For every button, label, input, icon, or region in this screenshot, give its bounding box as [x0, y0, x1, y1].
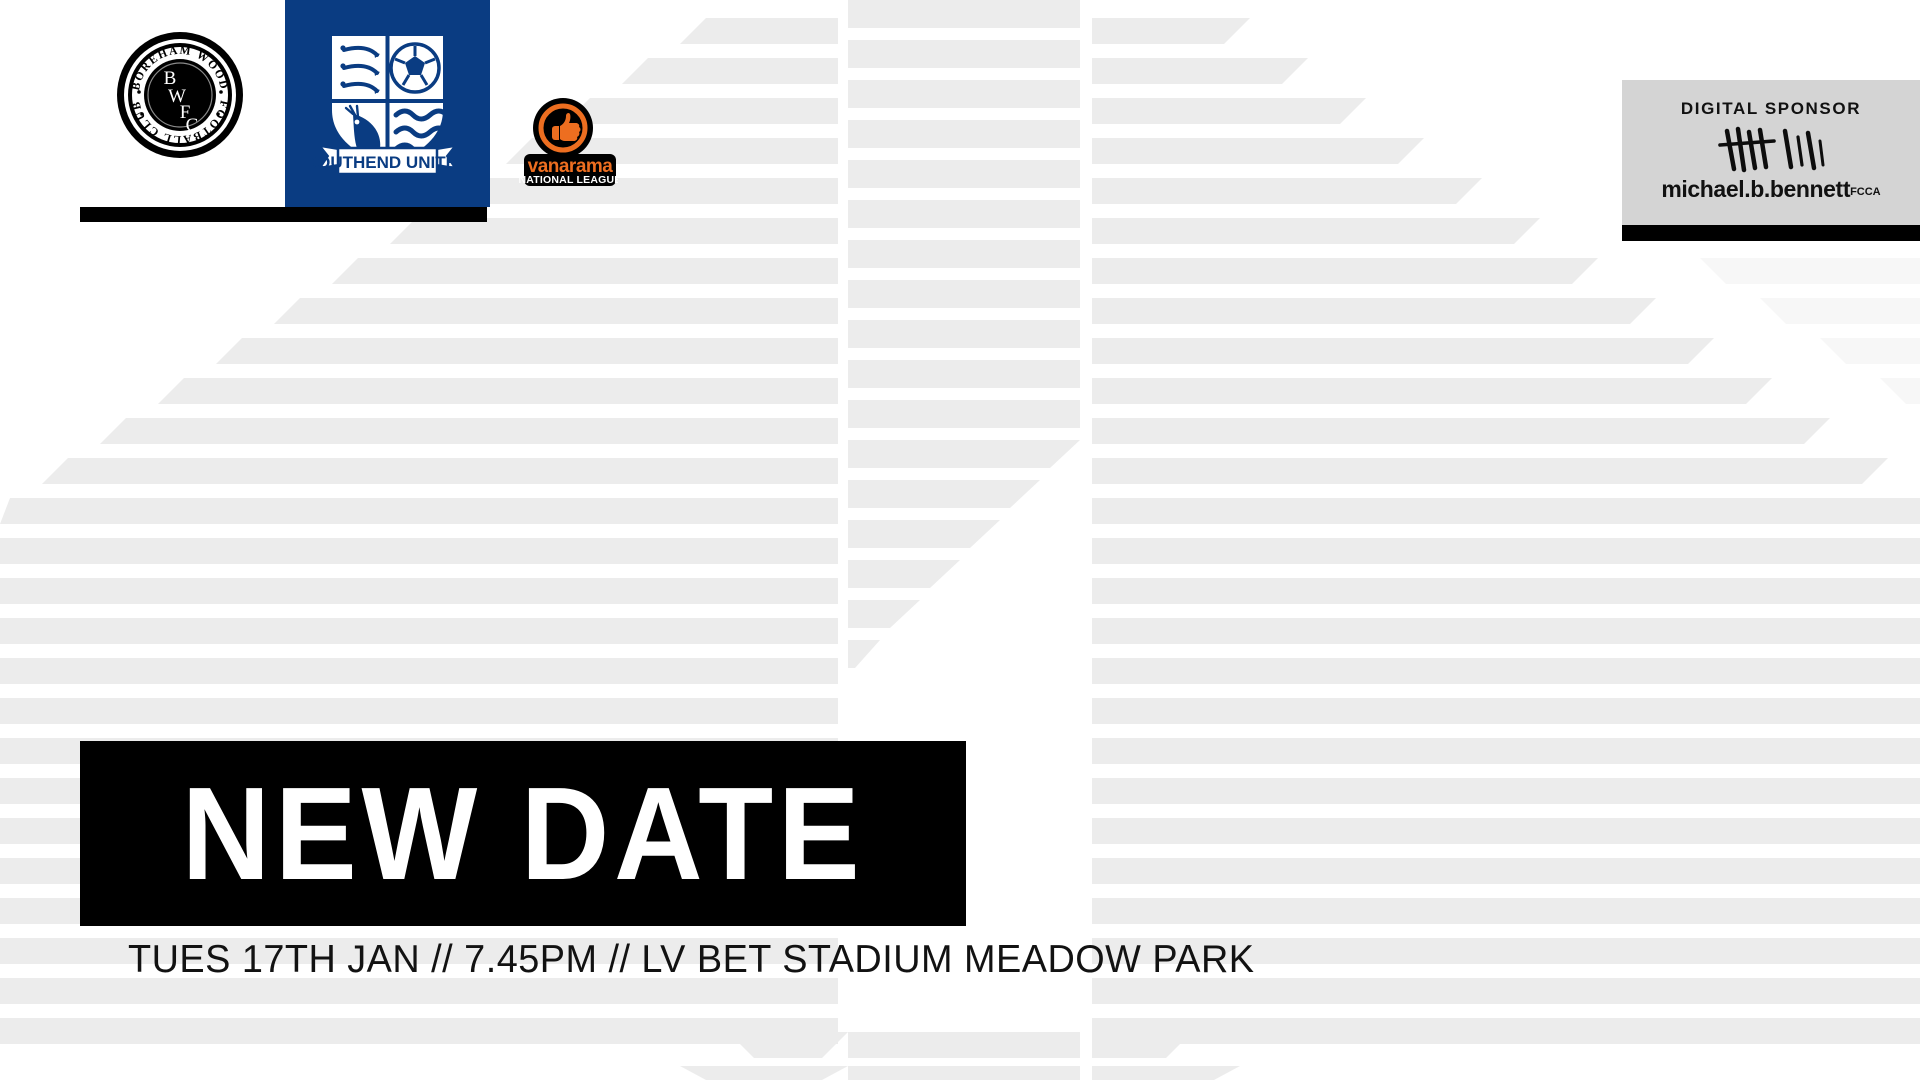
vanarama-subtitle: NATIONAL LEAGUE	[519, 174, 618, 186]
digital-sponsor-panel: DIGITAL SPONSOR michael.b.bennettFCCA	[1622, 80, 1920, 225]
sponsor-brand-row: michael.b.bennettFCCA	[1622, 176, 1920, 203]
southend-banner-text: SOUTHEND UNITED	[310, 153, 465, 172]
southend-united-crest-icon: SOUTHEND UNITED	[310, 22, 465, 182]
fixture-graphic: BOREHAM WOOD FOOTBALL CLUB B W F C	[0, 0, 1920, 1080]
tally-marks-icon	[1622, 123, 1920, 175]
digital-sponsor-label: DIGITAL SPONSOR	[1622, 99, 1920, 119]
digital-sponsor-underbar	[1622, 225, 1920, 241]
sponsor-brand-suffix: FCCA	[1850, 186, 1881, 198]
headline-banner: NEW DATE	[80, 741, 966, 926]
boreham-wood-crest-icon: BOREHAM WOOD FOOTBALL CLUB B W F C	[115, 30, 245, 160]
svg-text:C: C	[186, 115, 199, 136]
vanarama-national-league-logo: vanarama NATIONAL LEAGUE	[508, 96, 618, 188]
logo-strip-underbar	[80, 207, 487, 222]
sponsor-brand-name: michael.b.bennett	[1661, 176, 1850, 202]
headline-text: NEW DATE	[111, 741, 935, 926]
fixture-details-line: TUES 17TH JAN // 7.45PM // LV BET STADIU…	[128, 938, 1255, 982]
